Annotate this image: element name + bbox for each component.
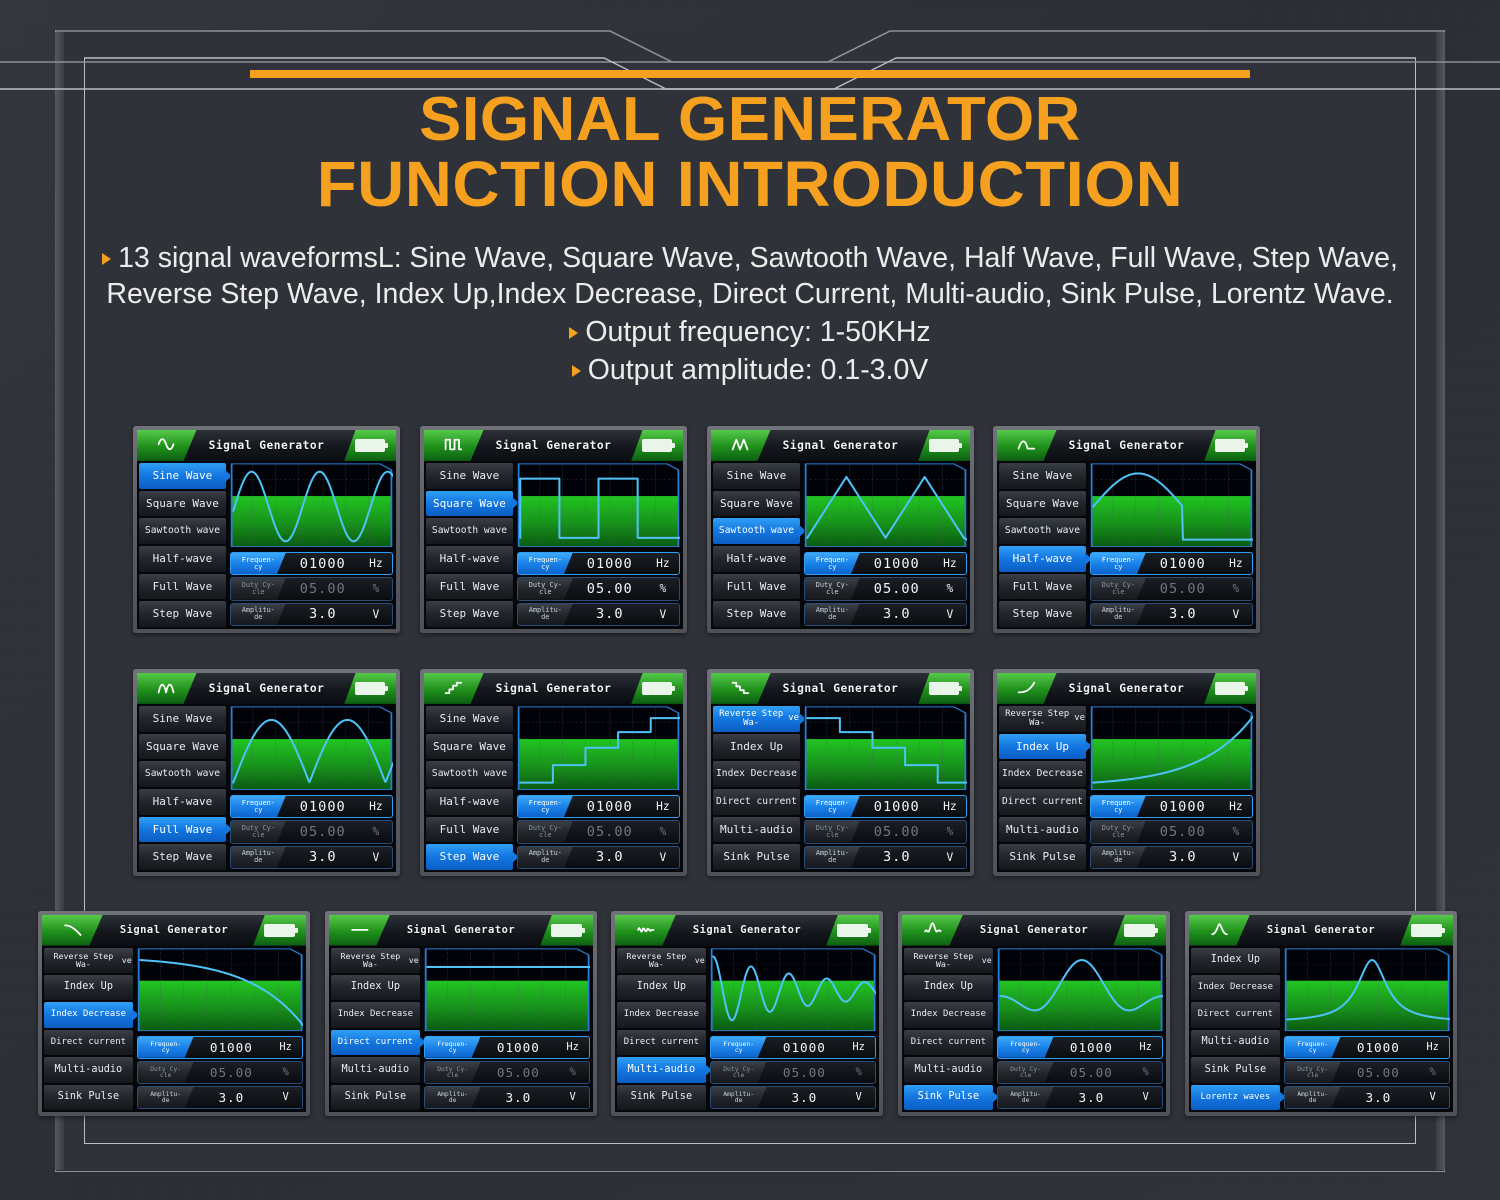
battery-area bbox=[1400, 915, 1453, 946]
field-duty-cycle[interactable]: Duty Cy-cle05.00% bbox=[517, 577, 680, 600]
field-duty-cycle-label: Duty Cy-cle bbox=[1091, 821, 1146, 842]
device-screenshot-fullwave: Signal GeneratorSine WaveSquare WaveSawt… bbox=[133, 669, 400, 876]
field-frequency[interactable]: Frequen-cy01000Hz bbox=[1090, 552, 1253, 575]
field-duty-cycle[interactable]: Duty Cy-cle05.00% bbox=[804, 820, 967, 843]
field-amplitude-unit: V bbox=[842, 1091, 875, 1103]
battery-icon bbox=[642, 682, 672, 695]
battery-area bbox=[1204, 430, 1256, 461]
menu-item-reverse-step-wa-ve[interactable]: Reverse Step Wa-ve bbox=[904, 948, 993, 973]
menu-item-direct-current[interactable]: Direct current bbox=[617, 1030, 706, 1055]
field-frequency[interactable]: Frequen-cy01000Hz bbox=[137, 1036, 303, 1059]
field-duty-cycle-unit: % bbox=[269, 1066, 302, 1078]
menu-item-square-wave[interactable]: Square Wave bbox=[139, 491, 226, 517]
menu-item-half-wave[interactable]: Half-wave bbox=[139, 546, 226, 572]
field-frequency-label: Frequen-cy bbox=[231, 796, 286, 817]
waveform-indicator bbox=[997, 673, 1057, 704]
menu-item-step-wave[interactable]: Step Wave bbox=[426, 844, 513, 870]
device-title-bar: Signal Generator bbox=[424, 673, 683, 704]
device-body: Sine WaveSquare WaveSawtooth waveHalf-wa… bbox=[424, 461, 683, 629]
field-duty-cycle[interactable]: Duty Cy-cle05.00% bbox=[997, 1061, 1163, 1084]
field-amplitude-unit: V bbox=[1220, 851, 1252, 864]
menu-item-direct-current[interactable]: Direct current bbox=[44, 1030, 133, 1055]
menu-item-full-wave[interactable]: Full Wave bbox=[426, 574, 513, 600]
device-right-column: Frequen-cy01000HzDuty Cy-cle05.00%Amplit… bbox=[709, 946, 879, 1112]
menu-item-reverse-step-wa-ve[interactable]: Reverse Step Wa-ve bbox=[617, 948, 706, 973]
device-title: Signal Generator bbox=[209, 682, 325, 695]
field-frequency-unit: Hz bbox=[1129, 1041, 1162, 1053]
battery-icon bbox=[264, 924, 295, 937]
field-amplitude-unit: V bbox=[934, 851, 966, 864]
menu-item-sine-wave[interactable]: Sine Wave bbox=[426, 706, 513, 732]
menu-item-square-wave[interactable]: Square Wave bbox=[999, 491, 1086, 517]
field-duty-cycle-unit: % bbox=[934, 825, 966, 838]
parameter-fields: Frequen-cy01000HzDuty Cy-cle05.00%Amplit… bbox=[230, 795, 393, 869]
menu-item-full-wave[interactable]: Full Wave bbox=[139, 574, 226, 600]
menu-item-multi-audio[interactable]: Multi-audio bbox=[1191, 1030, 1280, 1055]
device-title-bar: Signal Generator bbox=[615, 915, 879, 946]
waveform-indicator bbox=[711, 673, 771, 704]
field-amplitude-label: Amplitu-de bbox=[998, 1087, 1054, 1108]
device-right-column: Frequen-cy01000HzDuty Cy-cle05.00%Amplit… bbox=[1283, 946, 1453, 1112]
waveform-plot-svg bbox=[230, 706, 393, 793]
menu-item-square-wave[interactable]: Square Wave bbox=[426, 491, 513, 517]
field-duty-cycle-unit: % bbox=[842, 1066, 875, 1078]
field-amplitude[interactable]: Amplitu-de3.0V bbox=[1090, 846, 1253, 869]
device-title-bar: Signal Generator bbox=[997, 673, 1256, 704]
field-frequency-unit: Hz bbox=[1416, 1041, 1449, 1053]
battery-icon bbox=[1124, 924, 1155, 937]
device-body: Reverse Step Wa-veIndex UpIndex Decrease… bbox=[997, 704, 1256, 872]
field-amplitude-value: 3.0 bbox=[286, 849, 360, 865]
menu-item-square-wave[interactable]: Square Wave bbox=[713, 491, 800, 517]
menu-item-sawtooth-wave[interactable]: Sawtooth wave bbox=[999, 518, 1086, 544]
menu-item-reverse-step-wa-ve[interactable]: Reverse Step Wa-ve bbox=[331, 948, 420, 973]
waveform-indicator bbox=[1189, 915, 1250, 946]
field-frequency[interactable]: Frequen-cy01000Hz bbox=[710, 1036, 876, 1059]
device-screen: Signal GeneratorSine WaveSquare WaveSawt… bbox=[424, 673, 683, 872]
half-wave-icon bbox=[1005, 436, 1048, 454]
device-body: Sine WaveSquare WaveSawtooth waveHalf-wa… bbox=[424, 704, 683, 872]
field-amplitude[interactable]: Amplitu-de3.0V bbox=[137, 1086, 303, 1109]
device-right-column: Frequen-cy01000HzDuty Cy-cle05.00%Amplit… bbox=[803, 461, 970, 629]
field-amplitude[interactable]: Amplitu-de3.0V bbox=[517, 846, 680, 869]
menu-item-direct-current[interactable]: Direct current bbox=[1191, 1002, 1280, 1027]
device-screenshot-dc: Signal GeneratorReverse Step Wa-veIndex … bbox=[325, 911, 597, 1116]
device-title: Signal Generator bbox=[980, 924, 1088, 936]
menu-item-sink-pulse[interactable]: Sink Pulse bbox=[999, 844, 1086, 870]
menu-item-sink-pulse[interactable]: Sink Pulse bbox=[617, 1085, 706, 1110]
parameter-fields: Frequen-cy01000HzDuty Cy-cle05.00%Amplit… bbox=[517, 795, 680, 869]
menu-item-square-wave[interactable]: Square Wave bbox=[139, 734, 226, 760]
field-amplitude[interactable]: Amplitu-de3.0V bbox=[1284, 1086, 1450, 1109]
field-frequency[interactable]: Frequen-cy01000Hz bbox=[517, 552, 680, 575]
field-frequency-unit: Hz bbox=[1220, 557, 1252, 570]
field-frequency-value: 01000 bbox=[286, 799, 360, 815]
field-amplitude-label: Amplitu-de bbox=[805, 847, 860, 868]
field-frequency-value: 01000 bbox=[481, 1040, 557, 1055]
device-screen: Signal GeneratorSine WaveSquare WaveSawt… bbox=[711, 430, 970, 629]
menu-item-full-wave[interactable]: Full Wave bbox=[999, 574, 1086, 600]
menu-item-multi-audio[interactable]: Multi-audio bbox=[617, 1057, 706, 1082]
waveform-menu: Sine WaveSquare WaveSawtooth waveHalf-wa… bbox=[137, 461, 229, 629]
waveform-menu: Reverse Step Wa-veIndex UpIndex Decrease… bbox=[615, 946, 709, 1112]
menu-item-multi-audio[interactable]: Multi-audio bbox=[44, 1057, 133, 1082]
field-amplitude[interactable]: Amplitu-de3.0V bbox=[804, 603, 967, 626]
battery-area bbox=[344, 673, 396, 704]
menu-item-index-decrease[interactable]: Index Decrease bbox=[713, 761, 800, 787]
device-screenshot-indexup: Signal GeneratorReverse Step Wa-veIndex … bbox=[993, 669, 1260, 876]
menu-item-sink-pulse[interactable]: Sink Pulse bbox=[331, 1085, 420, 1110]
field-duty-cycle[interactable]: Duty Cy-cle05.00% bbox=[137, 1061, 303, 1084]
waveform-plot-svg bbox=[1284, 948, 1450, 1034]
field-frequency-value: 01000 bbox=[573, 556, 647, 572]
menu-item-direct-current[interactable]: Direct current bbox=[904, 1030, 993, 1055]
field-duty-cycle[interactable]: Duty Cy-cle05.00% bbox=[710, 1061, 876, 1084]
device-title: Signal Generator bbox=[1069, 439, 1185, 452]
menu-item-index-up[interactable]: Index Up bbox=[44, 975, 133, 1000]
menu-item-direct-current[interactable]: Direct current bbox=[331, 1030, 420, 1055]
battery-icon bbox=[929, 682, 959, 695]
field-frequency-unit: Hz bbox=[647, 557, 679, 570]
menu-item-sink-pulse[interactable]: Sink Pulse bbox=[44, 1085, 133, 1110]
device-body: Reverse Step Wa-veIndex UpIndex Decrease… bbox=[615, 946, 879, 1112]
feature-bullets: 13 signal waveformsL: Sine Wave, Square … bbox=[0, 240, 1500, 388]
menu-item-sine-wave[interactable]: Sine Wave bbox=[139, 463, 226, 489]
menu-item-full-wave[interactable]: Full Wave bbox=[426, 817, 513, 843]
waveform-display bbox=[804, 706, 967, 793]
battery-icon bbox=[1411, 924, 1442, 937]
menu-item-index-decrease[interactable]: Index Decrease bbox=[1191, 975, 1280, 1000]
field-duty-cycle[interactable]: Duty Cy-cle05.00% bbox=[424, 1061, 590, 1084]
waveform-plot-svg bbox=[997, 948, 1163, 1034]
menu-item-full-wave[interactable]: Full Wave bbox=[713, 574, 800, 600]
field-amplitude-unit: V bbox=[1220, 608, 1252, 621]
field-duty-cycle[interactable]: Duty Cy-cle05.00% bbox=[1284, 1061, 1450, 1084]
waveform-plot-svg bbox=[1090, 706, 1253, 793]
field-duty-cycle[interactable]: Duty Cy-cle05.00% bbox=[1090, 820, 1253, 843]
device-body: Reverse Step Wa-veIndex UpIndex Decrease… bbox=[711, 704, 970, 872]
menu-item-index-up[interactable]: Index Up bbox=[331, 975, 420, 1000]
menu-item-multi-audio[interactable]: Multi-audio bbox=[331, 1057, 420, 1082]
battery-icon bbox=[355, 682, 385, 695]
device-title-bar: Signal Generator bbox=[902, 915, 1166, 946]
field-frequency-label: Frequen-cy bbox=[231, 553, 286, 574]
field-amplitude[interactable]: Amplitu-de3.0V bbox=[710, 1086, 876, 1109]
field-frequency[interactable]: Frequen-cy01000Hz bbox=[804, 552, 967, 575]
field-duty-cycle-unit: % bbox=[1220, 582, 1252, 595]
field-duty-cycle-label: Duty Cy-cle bbox=[805, 821, 860, 842]
menu-item-step-wave[interactable]: Step Wave bbox=[713, 601, 800, 627]
field-duty-cycle-label: Duty Cy-cle bbox=[425, 1062, 481, 1083]
battery-area bbox=[344, 430, 396, 461]
field-frequency[interactable]: Frequen-cy01000Hz bbox=[230, 552, 393, 575]
device-screen: Signal GeneratorReverse Step Wa-veIndex … bbox=[711, 673, 970, 872]
menu-item-step-wave[interactable]: Step Wave bbox=[139, 601, 226, 627]
field-duty-cycle[interactable]: Duty Cy-cle05.00% bbox=[804, 577, 967, 600]
menu-item-sink-pulse[interactable]: Sink Pulse bbox=[713, 844, 800, 870]
device-body: Sine WaveSquare WaveSawtooth waveHalf-wa… bbox=[137, 704, 396, 872]
field-frequency[interactable]: Frequen-cy01000Hz bbox=[230, 795, 393, 818]
field-duty-cycle-value: 05.00 bbox=[1341, 1065, 1417, 1080]
device-title-bar: Signal Generator bbox=[711, 430, 970, 461]
device-screen: Signal GeneratorReverse Step Wa-veIndex … bbox=[615, 915, 879, 1112]
menu-item-sawtooth-wave[interactable]: Sawtooth wave bbox=[139, 518, 226, 544]
menu-item-full-wave[interactable]: Full Wave bbox=[139, 817, 226, 843]
waveform-indicator bbox=[329, 915, 390, 946]
field-duty-cycle-label: Duty Cy-cle bbox=[1091, 578, 1146, 599]
field-amplitude-label: Amplitu-de bbox=[231, 847, 286, 868]
field-frequency-label: Frequen-cy bbox=[138, 1037, 194, 1058]
field-frequency[interactable]: Frequen-cy01000Hz bbox=[1284, 1036, 1450, 1059]
waveform-display bbox=[230, 706, 393, 793]
waveform-display bbox=[517, 706, 680, 793]
field-frequency-label: Frequen-cy bbox=[1091, 796, 1146, 817]
menu-item-index-up[interactable]: Index Up bbox=[904, 975, 993, 1000]
menu-item-sawtooth-wave[interactable]: Sawtooth wave bbox=[426, 518, 513, 544]
field-amplitude[interactable]: Amplitu-de3.0V bbox=[230, 846, 393, 869]
device-right-column: Frequen-cy01000HzDuty Cy-cle05.00%Amplit… bbox=[516, 461, 683, 629]
device-screenshot-indexdown: Signal GeneratorReverse Step Wa-veIndex … bbox=[38, 911, 310, 1116]
device-right-column: Frequen-cy01000HzDuty Cy-cle05.00%Amplit… bbox=[516, 704, 683, 872]
field-frequency[interactable]: Frequen-cy01000Hz bbox=[517, 795, 680, 818]
waveform-menu: Reverse Step Wa-veIndex UpIndex Decrease… bbox=[42, 946, 136, 1112]
waveform-display bbox=[517, 463, 680, 550]
menu-item-direct-current[interactable]: Direct current bbox=[713, 789, 800, 815]
field-duty-cycle-label: Duty Cy-cle bbox=[711, 1062, 767, 1083]
parameter-fields: Frequen-cy01000HzDuty Cy-cle05.00%Amplit… bbox=[1284, 1036, 1450, 1109]
menu-item-sink-pulse[interactable]: Sink Pulse bbox=[1191, 1057, 1280, 1082]
field-duty-cycle[interactable]: Duty Cy-cle05.00% bbox=[230, 820, 393, 843]
menu-item-sink-pulse[interactable]: Sink Pulse bbox=[904, 1085, 993, 1110]
field-amplitude-unit: V bbox=[360, 851, 392, 864]
field-duty-cycle-value: 05.00 bbox=[860, 581, 934, 597]
menu-item-sine-wave[interactable]: Sine Wave bbox=[713, 463, 800, 489]
menu-item-step-wave[interactable]: Step Wave bbox=[426, 601, 513, 627]
field-duty-cycle-unit: % bbox=[934, 582, 966, 595]
field-amplitude[interactable]: Amplitu-de3.0V bbox=[997, 1086, 1163, 1109]
field-amplitude-value: 3.0 bbox=[767, 1090, 843, 1105]
field-frequency-label: Frequen-cy bbox=[1091, 553, 1146, 574]
menu-item-half-wave[interactable]: Half-wave bbox=[139, 789, 226, 815]
bullet-amplitude-text: Output amplitude: 0.1-3.0V bbox=[588, 354, 929, 386]
waveform-indicator bbox=[137, 430, 197, 461]
device-body: Index UpIndex DecreaseDirect currentMult… bbox=[1189, 946, 1453, 1112]
menu-item-lorentz-waves[interactable]: Lorentz waves bbox=[1191, 1085, 1280, 1110]
bullet-triangle-icon bbox=[569, 327, 578, 339]
index-up-icon bbox=[1005, 679, 1048, 697]
field-frequency[interactable]: Frequen-cy01000Hz bbox=[804, 795, 967, 818]
field-duty-cycle-value: 05.00 bbox=[194, 1065, 270, 1080]
field-frequency[interactable]: Frequen-cy01000Hz bbox=[1090, 795, 1253, 818]
field-duty-cycle-value: 05.00 bbox=[573, 824, 647, 840]
field-amplitude[interactable]: Amplitu-de3.0V bbox=[230, 603, 393, 626]
field-amplitude[interactable]: Amplitu-de3.0V bbox=[424, 1086, 590, 1109]
device-right-column: Frequen-cy01000HzDuty Cy-cle05.00%Amplit… bbox=[229, 461, 396, 629]
waveform-indicator bbox=[615, 915, 676, 946]
menu-item-direct-current[interactable]: Direct current bbox=[999, 789, 1086, 815]
device-screen: Signal GeneratorReverse Step Wa-veIndex … bbox=[902, 915, 1166, 1112]
field-frequency[interactable]: Frequen-cy01000Hz bbox=[424, 1036, 590, 1059]
bullet-amplitude: Output amplitude: 0.1-3.0V bbox=[0, 352, 1500, 388]
field-amplitude-value: 3.0 bbox=[1146, 606, 1220, 622]
multi-audio-icon bbox=[624, 921, 668, 939]
waveform-menu: Sine WaveSquare WaveSawtooth waveHalf-wa… bbox=[997, 461, 1089, 629]
waveform-menu: Reverse Step Wa-veIndex UpIndex Decrease… bbox=[329, 946, 423, 1112]
device-right-column: Frequen-cy01000HzDuty Cy-cle05.00%Amplit… bbox=[229, 704, 396, 872]
waveform-display bbox=[997, 948, 1163, 1034]
device-body: Reverse Step Wa-veIndex UpIndex Decrease… bbox=[902, 946, 1166, 1112]
waveform-plot-svg bbox=[1090, 463, 1253, 550]
menu-item-reverse-step-wa-ve[interactable]: Reverse Step Wa-ve bbox=[713, 706, 800, 732]
device-screenshot-sine: Signal GeneratorSine WaveSquare WaveSawt… bbox=[133, 426, 400, 633]
field-duty-cycle-value: 05.00 bbox=[481, 1065, 557, 1080]
device-right-column: Frequen-cy01000HzDuty Cy-cle05.00%Amplit… bbox=[996, 946, 1166, 1112]
device-title: Signal Generator bbox=[407, 924, 515, 936]
menu-item-index-up[interactable]: Index Up bbox=[1191, 948, 1280, 973]
direct-current-icon bbox=[338, 921, 382, 939]
device-screen: Signal GeneratorSine WaveSquare WaveSawt… bbox=[997, 430, 1256, 629]
menu-item-sine-wave[interactable]: Sine Wave bbox=[999, 463, 1086, 489]
menu-item-sawtooth-wave[interactable]: Sawtooth wave bbox=[713, 518, 800, 544]
device-screenshot-sawtooth: Signal GeneratorSine WaveSquare WaveSawt… bbox=[707, 426, 974, 633]
menu-item-sawtooth-wave[interactable]: Sawtooth wave bbox=[139, 761, 226, 787]
field-duty-cycle-unit: % bbox=[647, 582, 679, 595]
field-amplitude-label: Amplitu-de bbox=[1091, 847, 1146, 868]
menu-item-reverse-step-wa-ve[interactable]: Reverse Step Wa-ve bbox=[44, 948, 133, 973]
device-right-column: Frequen-cy01000HzDuty Cy-cle05.00%Amplit… bbox=[803, 704, 970, 872]
menu-item-index-decrease[interactable]: Index Decrease bbox=[904, 1002, 993, 1027]
battery-icon bbox=[642, 439, 672, 452]
menu-item-step-wave[interactable]: Step Wave bbox=[999, 601, 1086, 627]
step-wave-icon bbox=[432, 679, 475, 697]
square-wave-icon bbox=[432, 436, 475, 454]
menu-item-sine-wave[interactable]: Sine Wave bbox=[139, 706, 226, 732]
field-duty-cycle[interactable]: Duty Cy-cle05.00% bbox=[517, 820, 680, 843]
field-amplitude-value: 3.0 bbox=[860, 606, 934, 622]
menu-item-index-up[interactable]: Index Up bbox=[713, 734, 800, 760]
field-duty-cycle-label: Duty Cy-cle bbox=[231, 821, 286, 842]
device-screen: Signal GeneratorIndex UpIndex DecreaseDi… bbox=[1189, 915, 1453, 1112]
parameter-fields: Frequen-cy01000HzDuty Cy-cle05.00%Amplit… bbox=[137, 1036, 303, 1109]
parameter-fields: Frequen-cy01000HzDuty Cy-cle05.00%Amplit… bbox=[1090, 552, 1253, 626]
menu-item-index-up[interactable]: Index Up bbox=[999, 734, 1086, 760]
field-frequency-value: 01000 bbox=[286, 556, 360, 572]
device-title-bar: Signal Generator bbox=[42, 915, 306, 946]
menu-item-multi-audio[interactable]: Multi-audio bbox=[999, 817, 1086, 843]
field-frequency-label: Frequen-cy bbox=[711, 1037, 767, 1058]
bullet-frequency-text: Output frequency: 1-50KHz bbox=[585, 316, 930, 348]
field-duty-cycle-unit: % bbox=[360, 582, 392, 595]
parameter-fields: Frequen-cy01000HzDuty Cy-cle05.00%Amplit… bbox=[230, 552, 393, 626]
menu-item-multi-audio[interactable]: Multi-audio bbox=[904, 1057, 993, 1082]
menu-item-square-wave[interactable]: Square Wave bbox=[426, 734, 513, 760]
field-frequency[interactable]: Frequen-cy01000Hz bbox=[997, 1036, 1163, 1059]
menu-item-multi-audio[interactable]: Multi-audio bbox=[713, 817, 800, 843]
device-body: Reverse Step Wa-veIndex UpIndex Decrease… bbox=[329, 946, 593, 1112]
menu-item-half-wave[interactable]: Half-wave bbox=[426, 546, 513, 572]
field-frequency-label: Frequen-cy bbox=[805, 796, 860, 817]
field-duty-cycle-value: 05.00 bbox=[860, 824, 934, 840]
lorentz-wave-icon bbox=[1198, 921, 1242, 939]
menu-item-index-decrease[interactable]: Index Decrease bbox=[44, 1002, 133, 1027]
menu-item-index-decrease[interactable]: Index Decrease bbox=[999, 761, 1086, 787]
menu-item-sawtooth-wave[interactable]: Sawtooth wave bbox=[426, 761, 513, 787]
menu-item-half-wave[interactable]: Half-wave bbox=[999, 546, 1086, 572]
field-amplitude[interactable]: Amplitu-de3.0V bbox=[517, 603, 680, 626]
waveform-display bbox=[804, 463, 967, 550]
field-duty-cycle-unit: % bbox=[556, 1066, 589, 1078]
reverse-step-wave-icon bbox=[719, 679, 762, 697]
waveform-plot-svg bbox=[137, 948, 303, 1034]
device-screen: Signal GeneratorSine WaveSquare WaveSawt… bbox=[137, 673, 396, 872]
bullet-triangle-icon bbox=[572, 365, 581, 377]
field-amplitude-label: Amplitu-de bbox=[805, 604, 860, 625]
menu-item-index-decrease[interactable]: Index Decrease bbox=[331, 1002, 420, 1027]
device-screenshot-stepwave: Signal GeneratorSine WaveSquare WaveSawt… bbox=[420, 669, 687, 876]
waveform-display bbox=[1090, 706, 1253, 793]
menu-item-half-wave[interactable]: Half-wave bbox=[713, 546, 800, 572]
parameter-fields: Frequen-cy01000HzDuty Cy-cle05.00%Amplit… bbox=[804, 552, 967, 626]
menu-item-reverse-step-wa-ve[interactable]: Reverse Step Wa-ve bbox=[999, 706, 1086, 732]
device-title-bar: Signal Generator bbox=[1189, 915, 1453, 946]
field-frequency-value: 01000 bbox=[767, 1040, 843, 1055]
device-screen: Signal GeneratorReverse Step Wa-veIndex … bbox=[42, 915, 306, 1112]
field-amplitude-unit: V bbox=[647, 608, 679, 621]
field-frequency-label: Frequen-cy bbox=[518, 796, 573, 817]
device-body: Sine WaveSquare WaveSawtooth waveHalf-wa… bbox=[711, 461, 970, 629]
battery-area bbox=[918, 673, 970, 704]
field-amplitude-value: 3.0 bbox=[573, 849, 647, 865]
device-title: Signal Generator bbox=[783, 682, 899, 695]
menu-item-step-wave[interactable]: Step Wave bbox=[139, 844, 226, 870]
device-screen: Signal GeneratorReverse Step Wa-veIndex … bbox=[997, 673, 1256, 872]
field-frequency-unit: Hz bbox=[647, 800, 679, 813]
field-amplitude[interactable]: Amplitu-de3.0V bbox=[804, 846, 967, 869]
device-title: Signal Generator bbox=[693, 924, 801, 936]
device-title: Signal Generator bbox=[209, 439, 325, 452]
battery-area bbox=[1204, 673, 1256, 704]
field-frequency-unit: Hz bbox=[360, 800, 392, 813]
device-title: Signal Generator bbox=[120, 924, 228, 936]
field-amplitude[interactable]: Amplitu-de3.0V bbox=[1090, 603, 1253, 626]
parameter-fields: Frequen-cy01000HzDuty Cy-cle05.00%Amplit… bbox=[424, 1036, 590, 1109]
menu-item-index-decrease[interactable]: Index Decrease bbox=[617, 1002, 706, 1027]
bullet-waveforms-text: 13 signal waveformsL: Sine Wave, Square … bbox=[106, 242, 1398, 310]
field-amplitude-value: 3.0 bbox=[573, 606, 647, 622]
menu-item-half-wave[interactable]: Half-wave bbox=[426, 789, 513, 815]
field-amplitude-value: 3.0 bbox=[481, 1090, 557, 1105]
device-title: Signal Generator bbox=[496, 682, 612, 695]
menu-item-index-up[interactable]: Index Up bbox=[617, 975, 706, 1000]
page-title-line2: FUNCTION INTRODUCTION bbox=[0, 152, 1500, 216]
field-frequency-value: 01000 bbox=[573, 799, 647, 815]
field-amplitude-value: 3.0 bbox=[1146, 849, 1220, 865]
device-right-column: Frequen-cy01000HzDuty Cy-cle05.00%Amplit… bbox=[423, 946, 593, 1112]
field-duty-cycle[interactable]: Duty Cy-cle05.00% bbox=[230, 577, 393, 600]
field-duty-cycle[interactable]: Duty Cy-cle05.00% bbox=[1090, 577, 1253, 600]
field-amplitude-unit: V bbox=[647, 851, 679, 864]
menu-item-sine-wave[interactable]: Sine Wave bbox=[426, 463, 513, 489]
device-title-bar: Signal Generator bbox=[711, 673, 970, 704]
waveform-indicator bbox=[424, 430, 484, 461]
device-title: Signal Generator bbox=[1069, 682, 1185, 695]
field-frequency-label: Frequen-cy bbox=[518, 553, 573, 574]
waveform-menu: Sine WaveSquare WaveSawtooth waveHalf-wa… bbox=[424, 704, 516, 872]
waveform-display bbox=[1284, 948, 1450, 1034]
sink-pulse-icon bbox=[911, 921, 955, 939]
battery-icon bbox=[929, 439, 959, 452]
field-duty-cycle-label: Duty Cy-cle bbox=[138, 1062, 194, 1083]
